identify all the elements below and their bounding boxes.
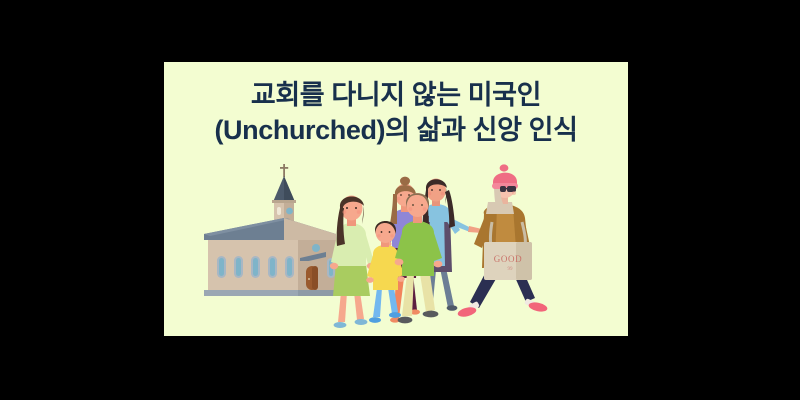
screenshot-root: 교회를 다니지 않는 미국인 (Unchurched)의 삶과 신앙 인식	[0, 0, 800, 400]
figure-person-with-pink-beanie: GOOD 99	[457, 164, 548, 318]
steeple-clock	[286, 208, 293, 215]
hero-illustration: GOOD 99	[164, 162, 628, 336]
rose-window	[312, 244, 320, 252]
steeple-window-left	[277, 207, 281, 215]
page-title: 교회를 다니지 않는 미국인 (Unchurched)의 삶과 신앙 인식	[164, 78, 628, 147]
steeple-spire-shade	[284, 176, 295, 202]
figure-woman-with-green-skirt	[330, 196, 375, 329]
page-title-line-2: (Unchurched)의 삶과 신앙 인식	[164, 113, 628, 148]
tote-bag-text: GOOD	[494, 254, 522, 264]
steeple-cornice	[272, 200, 296, 203]
tote-bag-subtext: 99	[508, 267, 514, 272]
cross-icon	[280, 164, 288, 177]
church-gable	[284, 218, 336, 240]
church-door-shade	[312, 266, 318, 290]
church-door-knob	[308, 278, 310, 280]
content-card: 교회를 다니지 않는 미국인 (Unchurched)의 삶과 신앙 인식	[164, 62, 628, 336]
page-title-line-1: 교회를 다니지 않는 미국인	[164, 78, 628, 113]
church-building	[204, 164, 340, 296]
